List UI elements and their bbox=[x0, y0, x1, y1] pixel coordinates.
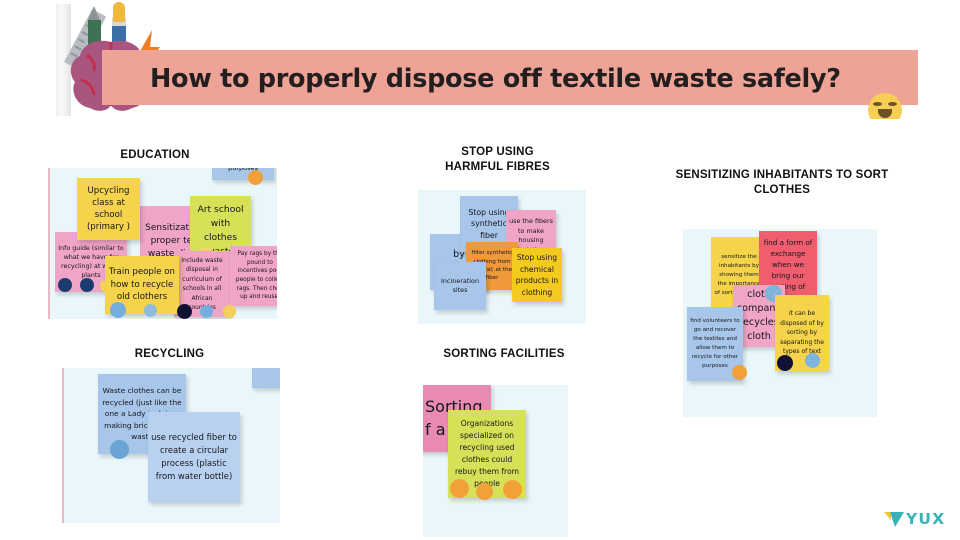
section-title-sensitizing: SENSITIZING INHABITANTS TO SORT CLOTHES bbox=[648, 168, 916, 197]
dot-orange bbox=[450, 479, 469, 498]
dot-black bbox=[777, 355, 793, 371]
dot-blue bbox=[200, 305, 213, 318]
dot-orange bbox=[476, 483, 493, 500]
board-stop-using: by recycling Stop using synthetic fiber … bbox=[418, 190, 586, 324]
note-recycling-2[interactable] bbox=[252, 368, 280, 388]
section-title-recycling: RECYCLING bbox=[92, 347, 247, 362]
section-title-sorting: SORTING FACILITIES bbox=[418, 347, 590, 362]
dot-blue bbox=[110, 440, 129, 459]
dot-orange bbox=[503, 480, 522, 499]
note-education-7[interactable]: Pay rags by the pound to incentives poor… bbox=[230, 246, 277, 306]
yux-mark-icon bbox=[884, 511, 906, 528]
header: How to properly dispose off textile wast… bbox=[0, 0, 960, 122]
dot-orange bbox=[732, 365, 747, 380]
board-education: purposes Sensitization on proper textile… bbox=[48, 168, 277, 319]
smiling-face-emoji bbox=[868, 93, 902, 119]
section-title-line1: SENSITIZING INHABITANTS TO SORT bbox=[648, 168, 916, 183]
section-title-education: EDUCATION bbox=[60, 148, 250, 163]
dot-orange bbox=[248, 170, 263, 185]
yux-logo-text: YUX bbox=[906, 510, 945, 528]
section-title-line2: CLOTHES bbox=[648, 183, 916, 198]
note-stop-4[interactable]: Stop using chemical products in clothing bbox=[512, 248, 562, 302]
dot-blue bbox=[110, 302, 126, 318]
note-education-1[interactable]: Upcycling class at school (primary ) bbox=[77, 178, 140, 240]
dot-navy bbox=[80, 278, 94, 292]
section-title-stop-using: STOP USING HARMFUL FIBRES bbox=[400, 145, 595, 174]
note-recycling-1[interactable]: use recycled fiber to create a circular … bbox=[148, 412, 240, 502]
section-title-line2: HARMFUL FIBRES bbox=[400, 160, 595, 175]
board-sorting: Sorting f a Organizations specialized on… bbox=[423, 385, 568, 537]
board-recycling: Waste clothes can be recycled (just like… bbox=[62, 368, 280, 523]
dot-navy bbox=[58, 278, 72, 292]
yux-logo: YUX bbox=[884, 509, 950, 531]
dot-blue bbox=[144, 304, 157, 317]
dot-blue bbox=[805, 353, 820, 368]
note-education-0[interactable]: purposes bbox=[212, 168, 274, 180]
dot-yellow bbox=[223, 305, 236, 318]
section-title-line1: STOP USING bbox=[400, 145, 595, 160]
page-title: How to properly dispose off textile wast… bbox=[150, 61, 910, 97]
dot-black bbox=[177, 304, 192, 319]
board-sensitizing: sensitize the inhabitants by showing the… bbox=[683, 229, 877, 417]
note-stop-5[interactable]: Incineration sites bbox=[434, 262, 486, 310]
